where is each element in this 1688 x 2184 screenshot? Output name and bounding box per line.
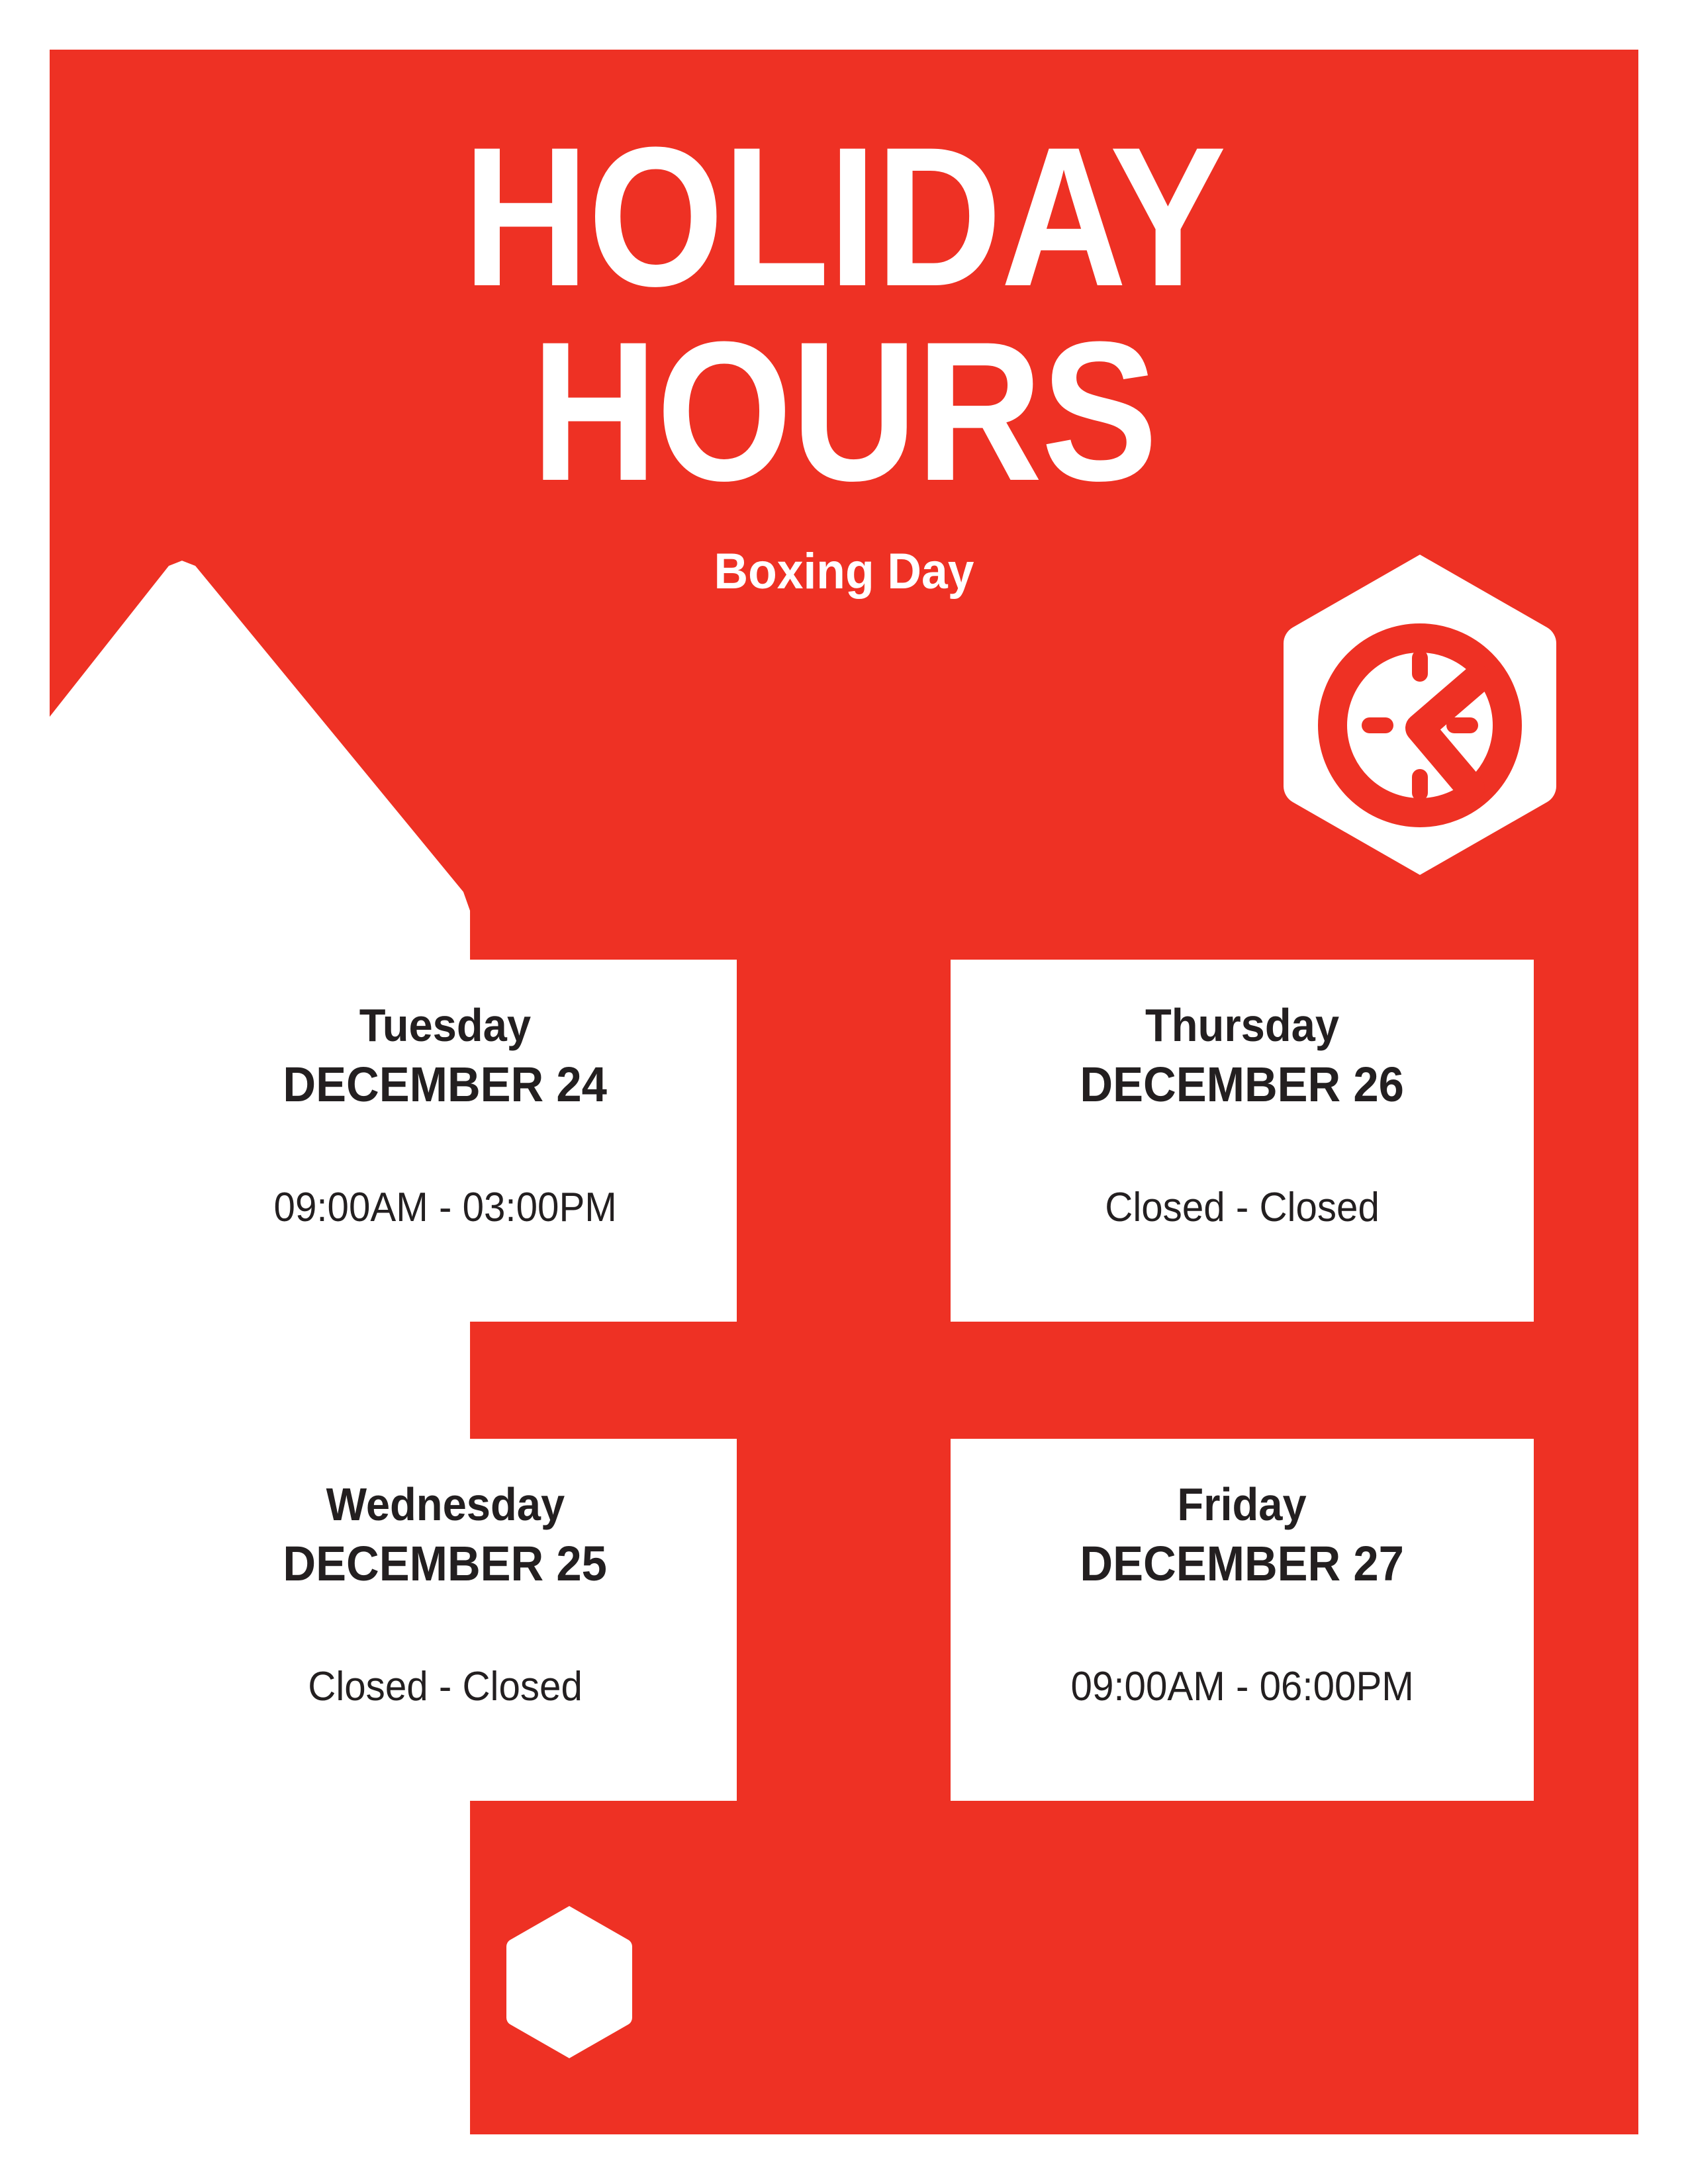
card-hours-label: Closed - Closed [1105,1185,1380,1230]
clock-icon [1274,549,1566,880]
schedule-card-grid: Tuesday DECEMBER 24 09:00AM - 03:00PM Th… [154,960,1534,1801]
schedule-card[interactable]: Thursday DECEMBER 26 Closed - Closed [951,960,1534,1322]
card-date-label: DECEMBER 26 [1080,1059,1405,1111]
schedule-card[interactable]: Wednesday DECEMBER 25 Closed - Closed [154,1439,737,1801]
card-date-label: DECEMBER 24 [283,1059,608,1111]
card-hours-label: 09:00AM - 06:00PM [1070,1664,1413,1709]
card-hours-label: Closed - Closed [308,1664,583,1709]
card-hours-label: 09:00AM - 03:00PM [273,1185,616,1230]
card-day-label: Tuesday [359,1001,531,1050]
hexagon-icon [501,1904,637,2060]
schedule-card[interactable]: Tuesday DECEMBER 24 09:00AM - 03:00PM [154,960,737,1322]
card-day-label: Friday [1178,1480,1307,1529]
schedule-card[interactable]: Friday DECEMBER 27 09:00AM - 06:00PM [951,1439,1534,1801]
poster-canvas: HOLIDAY HOURS Boxing Day Tuesday DECEMBE… [0,0,1688,2184]
card-date-label: DECEMBER 25 [283,1538,608,1590]
card-day-label: Thursday [1145,1001,1339,1050]
card-day-label: Wednesday [326,1480,565,1529]
card-date-label: DECEMBER 27 [1080,1538,1405,1590]
